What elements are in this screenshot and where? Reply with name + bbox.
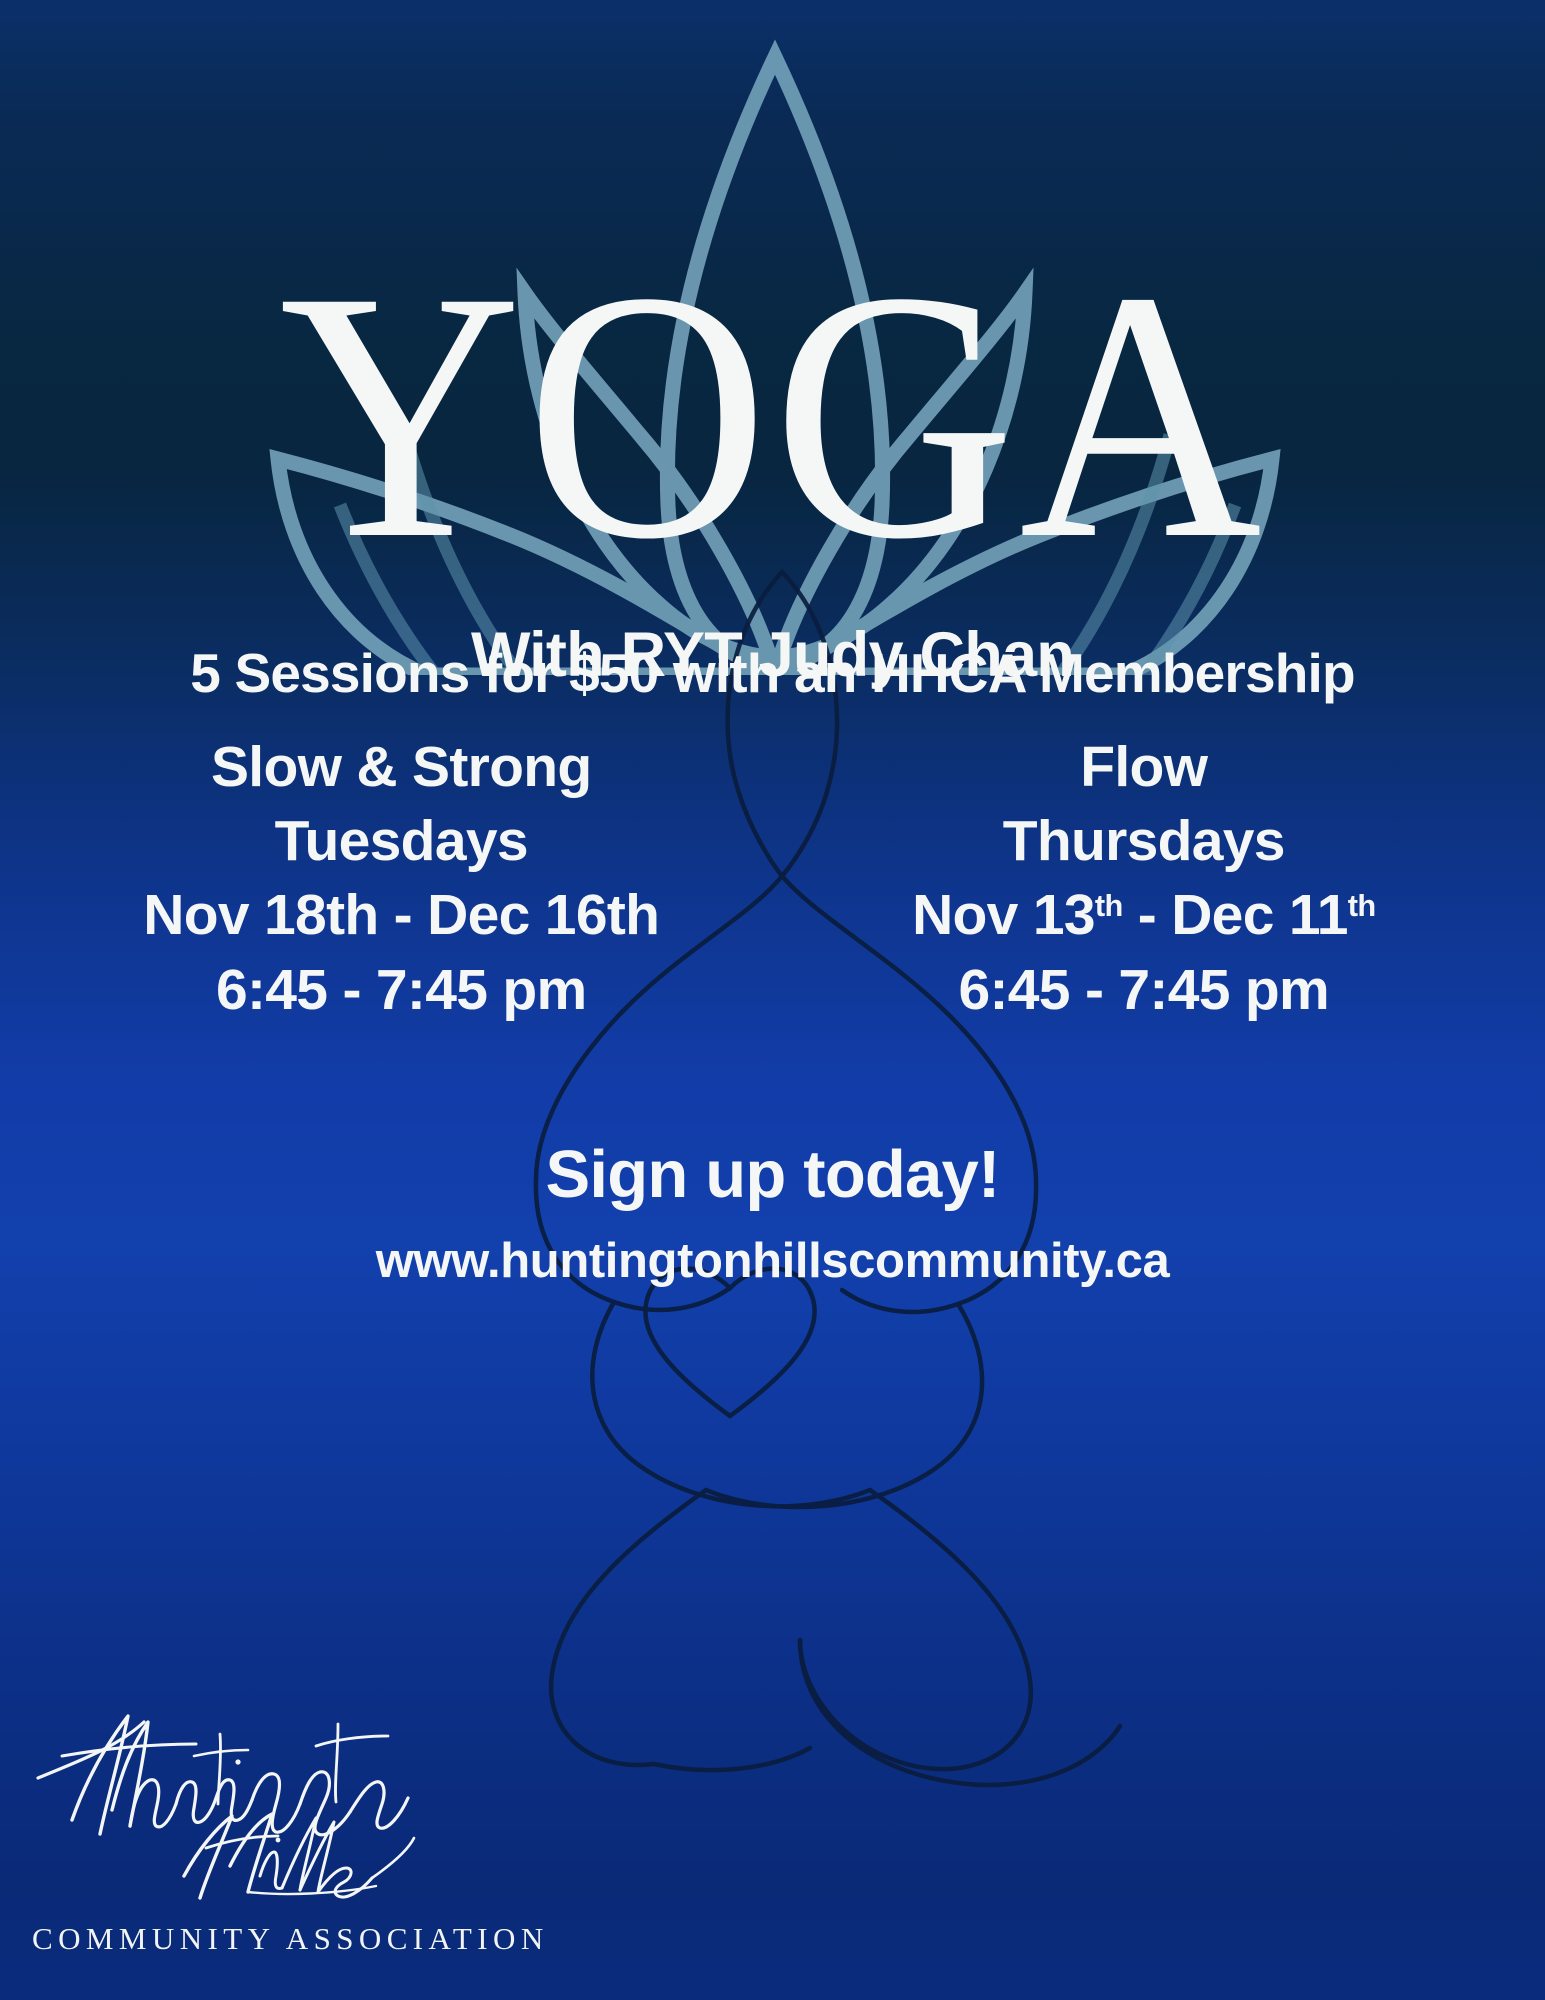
page-title: YOGA bbox=[0, 252, 1545, 580]
class-columns: Slow & Strong Tuesdays Nov 18th - Dec 16… bbox=[30, 730, 1515, 1029]
poster-content: YOGA With RYT Judy Chan 5 Sessions for $… bbox=[0, 0, 1545, 2000]
class-start-suffix: th bbox=[326, 883, 378, 947]
date-range-dash: - bbox=[1138, 883, 1156, 947]
class-end-suffix: th bbox=[1348, 888, 1376, 923]
class-end-suffix: th bbox=[607, 883, 659, 947]
signature-logo-icon bbox=[16, 1700, 416, 1915]
class-day: Thursdays bbox=[773, 804, 1516, 878]
class-time: 6:45 - 7:45 pm bbox=[773, 952, 1516, 1028]
class-column-flow: Flow Thursdays Nov 13th - Dec 11th 6:45 … bbox=[773, 730, 1516, 1029]
class-dates: Nov 13th - Dec 11th bbox=[773, 878, 1516, 952]
class-name: Slow & Strong bbox=[30, 730, 773, 804]
logo-association-text: COMMUNITY ASSOCIATION bbox=[16, 1921, 436, 1957]
class-start-day: 18 bbox=[264, 883, 326, 947]
website-link[interactable]: www.huntingtonhillscommunity.ca bbox=[0, 1233, 1545, 1289]
class-start-suffix: th bbox=[1095, 888, 1123, 923]
call-to-action: Sign up today! bbox=[0, 1136, 1545, 1213]
class-dates: Nov 18th - Dec 16th bbox=[30, 878, 773, 952]
logo: COMMUNITY ASSOCIATION bbox=[16, 1700, 436, 1957]
class-end-day: 11 bbox=[1289, 883, 1348, 947]
class-start-day: 13 bbox=[1033, 883, 1095, 947]
class-end-month: Dec bbox=[1171, 883, 1274, 947]
class-end-month: Dec bbox=[427, 883, 530, 947]
class-start-month: Nov bbox=[912, 883, 1018, 947]
class-column-slow-and-strong: Slow & Strong Tuesdays Nov 18th - Dec 16… bbox=[30, 730, 773, 1029]
class-name: Flow bbox=[773, 730, 1516, 804]
class-start-month: Nov bbox=[143, 883, 249, 947]
price-line: 5 Sessions for $50 with an HHCA Membersh… bbox=[0, 641, 1545, 705]
class-end-day: 16 bbox=[545, 883, 607, 947]
class-day: Tuesdays bbox=[30, 804, 773, 878]
date-range-dash: - bbox=[394, 883, 412, 947]
yoga-poster: YOGA With RYT Judy Chan 5 Sessions for $… bbox=[0, 0, 1545, 2000]
class-time: 6:45 - 7:45 pm bbox=[30, 952, 773, 1028]
